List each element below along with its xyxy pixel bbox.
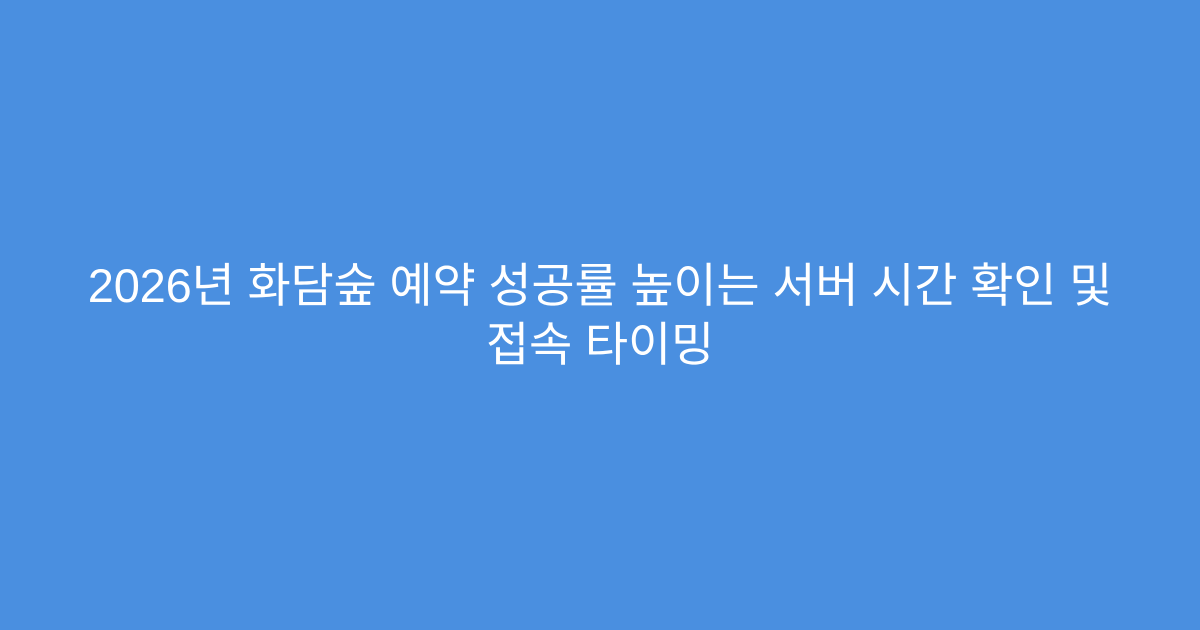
page-title: 2026년 화담숲 예약 성공률 높이는 서버 시간 확인 및 접속 타이밍 bbox=[60, 256, 1140, 374]
social-share-card: 2026년 화담숲 예약 성공률 높이는 서버 시간 확인 및 접속 타이밍 bbox=[0, 0, 1200, 630]
title-block: 2026년 화담숲 예약 성공률 높이는 서버 시간 확인 및 접속 타이밍 bbox=[60, 256, 1140, 374]
